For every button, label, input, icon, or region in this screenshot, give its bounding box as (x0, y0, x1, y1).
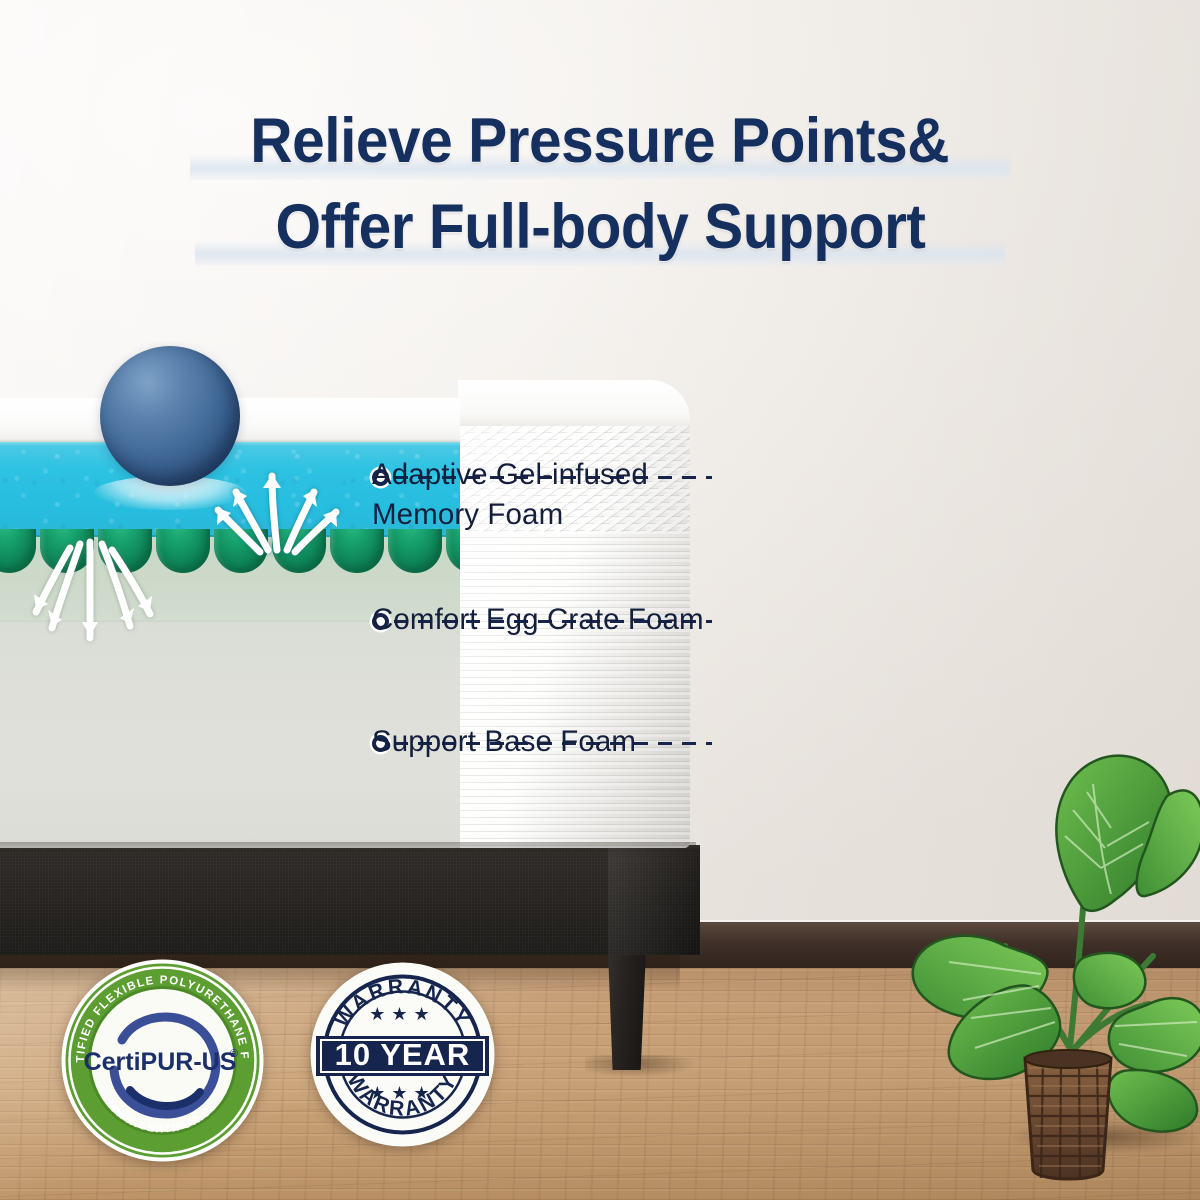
infographic-canvas: Relieve Pressure Points& Offer Full-body… (0, 0, 1200, 1200)
svg-text:★★★: ★★★ (369, 1083, 435, 1103)
warranty-badge: WARRANTY WARRANTY ★★★ ★★★ 10 YEAR (310, 962, 495, 1147)
svg-text:★★★: ★★★ (369, 1004, 435, 1024)
warranty-years-text: 10 YEAR (335, 1037, 471, 1072)
svg-text:®: ® (230, 1048, 238, 1060)
certipur-us-badge: CertiPUR-US ® CERTIFIED FLEXIBLE POLYURE… (60, 958, 265, 1163)
certipur-wordmark: CertiPUR-US (84, 1048, 237, 1076)
certification-badges: CertiPUR-US ® CERTIFIED FLEXIBLE POLYURE… (0, 0, 1200, 1200)
